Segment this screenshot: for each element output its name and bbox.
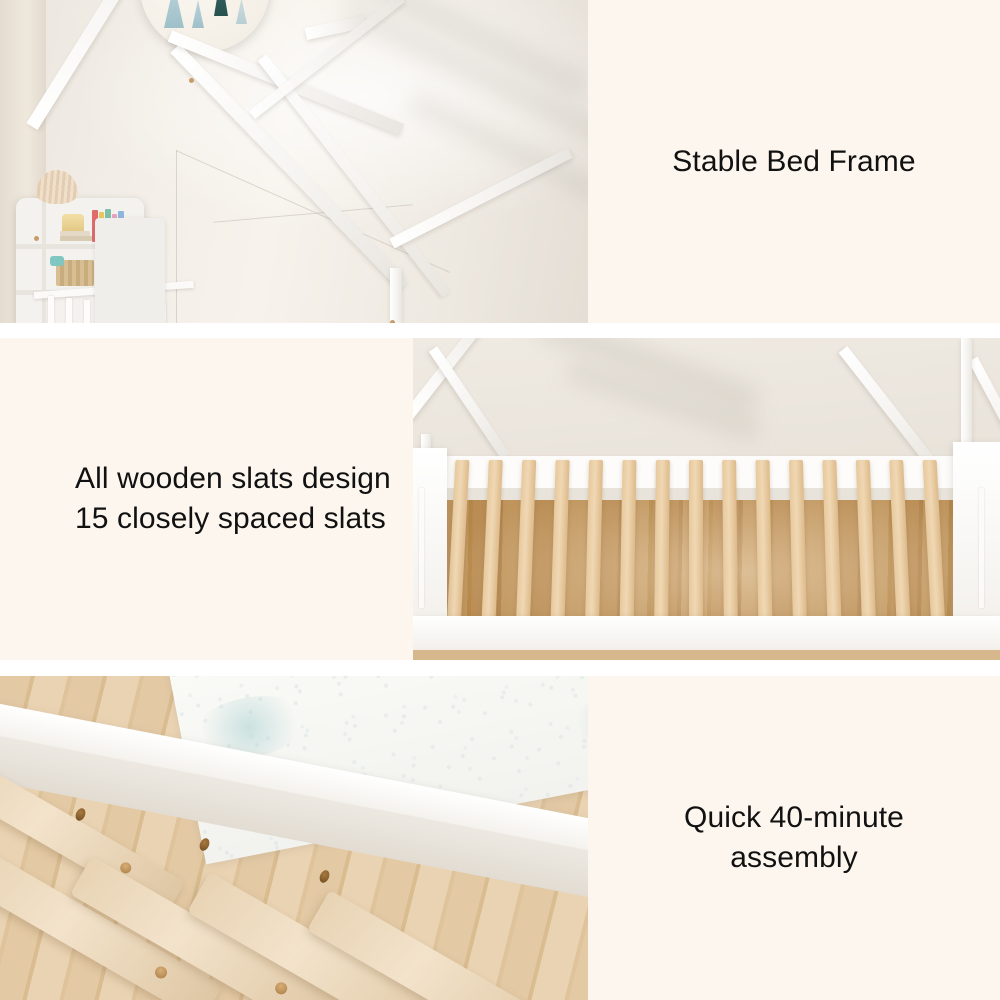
floor-strip <box>413 650 1000 660</box>
rail-picket <box>84 300 90 323</box>
slat <box>654 460 670 628</box>
slat <box>620 460 637 628</box>
rail-picket <box>419 488 424 608</box>
book <box>60 236 92 241</box>
slat <box>722 460 738 628</box>
frame-joint-dot <box>390 320 395 323</box>
frame-post-right <box>390 268 402 323</box>
shelf-divider <box>42 198 46 323</box>
caption-quick-assembly: Quick 40-minute assembly <box>588 798 1000 878</box>
tree-icon <box>164 0 184 28</box>
toy <box>50 256 64 266</box>
rail-picket <box>979 488 984 608</box>
wooden-peg <box>273 980 289 996</box>
feature-row-wooden-slats: All wooden slats design 15 closely space… <box>0 338 1000 660</box>
rail-picket <box>48 296 54 323</box>
front-rail <box>413 616 1000 652</box>
tree-icon <box>236 0 247 24</box>
tree-icon <box>214 0 228 16</box>
feature-row-stable-bed-frame: Stable Bed Frame <box>0 0 1000 323</box>
caption-panel-stable-bed-frame: Stable Bed Frame <box>588 0 1000 323</box>
wooden-peg <box>153 964 169 980</box>
wooden-slat-base-photo <box>413 338 1000 660</box>
slat <box>689 460 703 628</box>
slat <box>756 460 773 628</box>
wall-moulding <box>176 150 177 323</box>
frame-joint-dot <box>189 78 194 83</box>
caption-wooden-slats: All wooden slats design 15 closely space… <box>0 459 391 539</box>
caption-panel-quick-assembly: Quick 40-minute assembly <box>588 676 1000 1000</box>
bed-headboard-panel <box>95 218 165 323</box>
rail-picket <box>66 298 72 323</box>
caption-panel-wooden-slats: All wooden slats design 15 closely space… <box>0 338 413 660</box>
house-frame-bed-in-room-photo <box>0 0 588 323</box>
frame-joint-dot <box>34 236 39 241</box>
feature-row-quick-assembly: Quick 40-minute assembly <box>0 676 1000 1000</box>
tree-icon <box>192 0 204 28</box>
caption-stable-bed-frame: Stable Bed Frame <box>588 142 1000 182</box>
slat-assembly-closeup-photo <box>0 676 588 1000</box>
infographic-page: Stable Bed Frame All wooden slats design… <box>0 0 1000 1000</box>
